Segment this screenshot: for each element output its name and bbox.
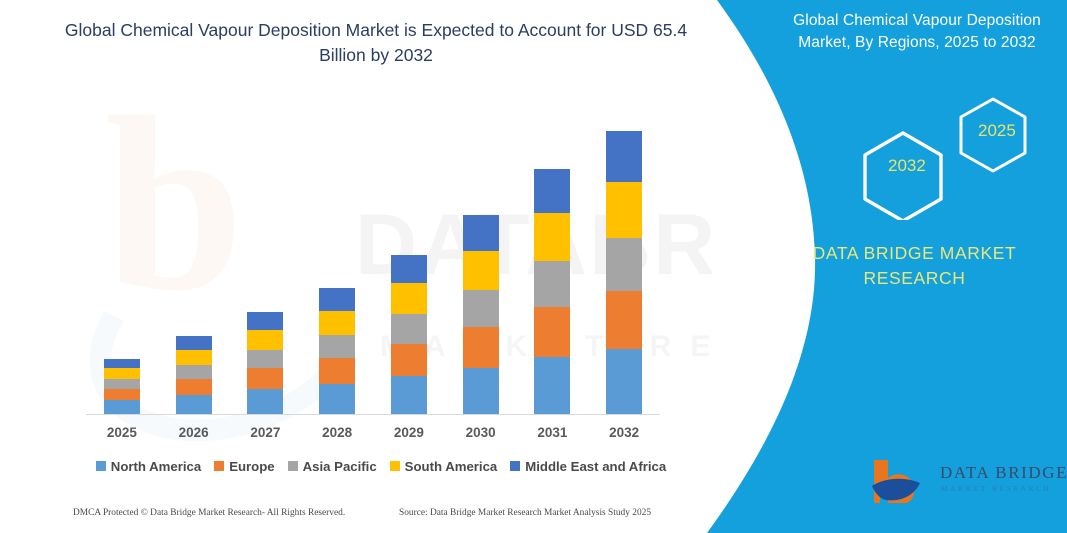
hexagon-2025-label: 2025: [978, 121, 1016, 141]
bar-segment-middle-east-and-africa: [104, 359, 140, 369]
bar-segment-europe: [391, 344, 427, 377]
bar-segment-asia-pacific: [606, 238, 642, 291]
bar-segment-europe: [176, 379, 212, 395]
brand-name: DATA BRIDGE MARKET RESEARCH: [762, 241, 1067, 292]
x-axis-label-2028: 2028: [307, 425, 367, 440]
bar-2031[interactable]: [534, 169, 570, 413]
bar-segment-north-america: [247, 389, 283, 413]
hexagon-2032-label: 2032: [888, 156, 926, 176]
bar-segment-south-america: [319, 311, 355, 335]
logo-subtitle: MARKET RESEARCH: [941, 484, 1052, 493]
legend-item-middle-east-and-africa[interactable]: Middle East and Africa: [510, 459, 666, 474]
bar-segment-europe: [104, 389, 140, 400]
bar-2030[interactable]: [463, 215, 499, 413]
bar-segment-north-america: [319, 384, 355, 414]
legend-label: South America: [405, 459, 498, 474]
bar-segment-asia-pacific: [104, 379, 140, 389]
chart-panel: b DATABRIDGE MARKET RESEARCH Global Chem…: [0, 0, 712, 533]
bar-segment-north-america: [391, 376, 427, 413]
bar-chart-plot: [86, 110, 660, 415]
legend-label: North America: [111, 459, 201, 474]
bar-segment-asia-pacific: [247, 350, 283, 369]
x-axis-label-2032: 2032: [594, 425, 654, 440]
x-axis-label-2027: 2027: [235, 425, 295, 440]
x-axis-label-2029: 2029: [379, 425, 439, 440]
page-title: Global Chemical Vapour Deposition Market…: [62, 18, 690, 69]
bar-segment-middle-east-and-africa: [391, 255, 427, 283]
bar-segment-europe: [463, 327, 499, 368]
chart-legend: North AmericaEuropeAsia PacificSouth Ame…: [86, 455, 676, 477]
hexagon-shapes: [817, 95, 1067, 220]
bar-segment-north-america: [463, 368, 499, 414]
footer-copyright: DMCA Protected © Data Bridge Market Rese…: [73, 508, 345, 518]
legend-item-europe[interactable]: Europe: [214, 459, 274, 474]
bar-segment-south-america: [463, 251, 499, 290]
bar-2025[interactable]: [104, 359, 140, 414]
footer: DMCA Protected © Data Bridge Market Rese…: [0, 505, 700, 529]
bar-segment-asia-pacific: [391, 314, 427, 344]
legend-item-north-america[interactable]: North America: [96, 459, 201, 474]
bar-segment-middle-east-and-africa: [534, 169, 570, 213]
x-axis-label-2031: 2031: [522, 425, 582, 440]
legend-swatch-icon: [288, 461, 298, 471]
bar-segment-middle-east-and-africa: [176, 336, 212, 350]
bar-segment-middle-east-and-africa: [606, 131, 642, 182]
x-axis-label-2026: 2026: [164, 425, 224, 440]
bar-segment-south-america: [391, 283, 427, 314]
legend-swatch-icon: [390, 461, 400, 471]
bar-segment-asia-pacific: [319, 335, 355, 358]
bar-segment-europe: [319, 358, 355, 384]
bar-2032[interactable]: [606, 131, 642, 414]
bar-segment-south-america: [606, 182, 642, 238]
bar-segment-europe: [247, 368, 283, 389]
bar-segment-south-america: [534, 213, 570, 261]
bar-segment-south-america: [176, 350, 212, 366]
hexagon-year-group: 2025 2032: [817, 95, 1067, 220]
bar-segment-middle-east-and-africa: [247, 312, 283, 330]
bar-segment-asia-pacific: [176, 365, 212, 379]
legend-swatch-icon: [510, 461, 520, 471]
panel-title: Global Chemical Vapour Deposition Market…: [767, 10, 1067, 54]
bar-segment-middle-east-and-africa: [463, 215, 499, 251]
bar-segment-europe: [606, 291, 642, 349]
bar-segment-middle-east-and-africa: [319, 288, 355, 310]
footer-source: Source: Data Bridge Market Research Mark…: [399, 508, 651, 518]
legend-swatch-icon: [214, 461, 224, 471]
company-logo: DATA BRIDGE MARKET RESEARCH: [870, 452, 1067, 514]
hexagon-2032: [865, 133, 941, 220]
bar-segment-north-america: [176, 395, 212, 414]
bar-2027[interactable]: [247, 312, 283, 413]
legend-item-asia-pacific[interactable]: Asia Pacific: [288, 459, 377, 474]
x-axis-label-2025: 2025: [92, 425, 152, 440]
legend-item-south-america[interactable]: South America: [390, 459, 498, 474]
bar-2028[interactable]: [319, 288, 355, 413]
bar-segment-south-america: [247, 330, 283, 350]
legend-swatch-icon: [96, 461, 106, 471]
bar-segment-europe: [534, 307, 570, 357]
x-axis-label-2030: 2030: [451, 425, 511, 440]
bar-2026[interactable]: [176, 336, 212, 414]
bar-segment-asia-pacific: [534, 261, 570, 307]
x-axis-labels: 20252026202720282029203020312032: [86, 425, 660, 445]
logo-wordmark: DATA BRIDGE: [940, 463, 1067, 483]
legend-label: Europe: [229, 459, 274, 474]
bar-segment-north-america: [534, 357, 570, 413]
bar-segment-asia-pacific: [463, 290, 499, 327]
brand-panel: Global Chemical Vapour Deposition Market…: [687, 0, 1067, 533]
bar-2029[interactable]: [391, 255, 427, 414]
data-bridge-logo-icon: [870, 456, 932, 506]
bar-segment-north-america: [104, 400, 140, 413]
bar-segment-south-america: [104, 368, 140, 379]
x-axis-line: [86, 414, 660, 416]
bar-segment-north-america: [606, 349, 642, 413]
legend-label: Asia Pacific: [303, 459, 377, 474]
legend-label: Middle East and Africa: [525, 459, 666, 474]
